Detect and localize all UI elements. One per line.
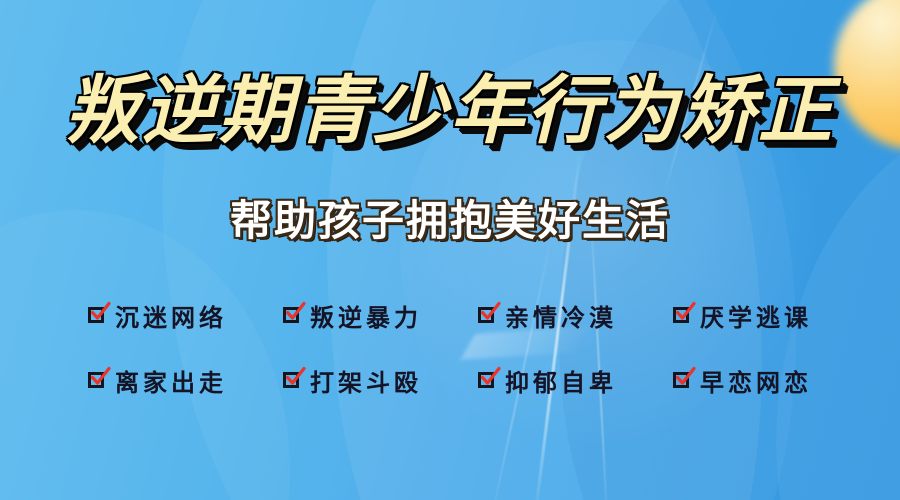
checkbox-checked-icon (283, 370, 304, 391)
checklist-item[interactable]: 离家出走 (88, 363, 227, 398)
checkbox-checked-icon (478, 370, 499, 391)
checklist-item[interactable]: 早恋网恋 (673, 363, 812, 398)
checklist-item-label: 厌学逃课 (700, 298, 812, 333)
checklist: 沉迷网络 叛逆暴力 亲情冷漠 (88, 292, 812, 403)
checklist-item-label: 亲情冷漠 (505, 298, 617, 333)
promo-banner: 叛逆期青少年行为矫正 帮助孩子拥抱美好生活 沉迷网络 (0, 0, 900, 500)
checkbox-checked-icon (673, 370, 694, 391)
checklist-item-label: 早恋网恋 (700, 363, 812, 398)
checklist-item[interactable]: 沉迷网络 (88, 298, 227, 333)
checklist-row: 沉迷网络 叛逆暴力 亲情冷漠 (88, 292, 812, 338)
page-subtitle: 帮助孩子拥抱美好生活 (0, 200, 900, 242)
page-title: 叛逆期青少年行为矫正 (0, 74, 900, 148)
checklist-item-label: 离家出走 (115, 363, 227, 398)
checklist-item[interactable]: 厌学逃课 (673, 298, 812, 333)
checkbox-checked-icon (478, 305, 499, 326)
checklist-item-label: 沉迷网络 (115, 298, 227, 333)
checkbox-checked-icon (88, 370, 109, 391)
checkbox-checked-icon (88, 305, 109, 326)
checklist-item[interactable]: 抑郁自卑 (478, 363, 617, 398)
checklist-item-label: 抑郁自卑 (505, 363, 617, 398)
checkbox-checked-icon (673, 305, 694, 326)
checklist-item-label: 打架斗殴 (310, 363, 422, 398)
checklist-row: 离家出走 打架斗殴 抑郁自卑 (88, 357, 812, 403)
checklist-item[interactable]: 亲情冷漠 (478, 298, 617, 333)
checklist-item[interactable]: 叛逆暴力 (283, 298, 422, 333)
checklist-item[interactable]: 打架斗殴 (283, 363, 422, 398)
checkbox-checked-icon (283, 305, 304, 326)
checklist-item-label: 叛逆暴力 (310, 298, 422, 333)
